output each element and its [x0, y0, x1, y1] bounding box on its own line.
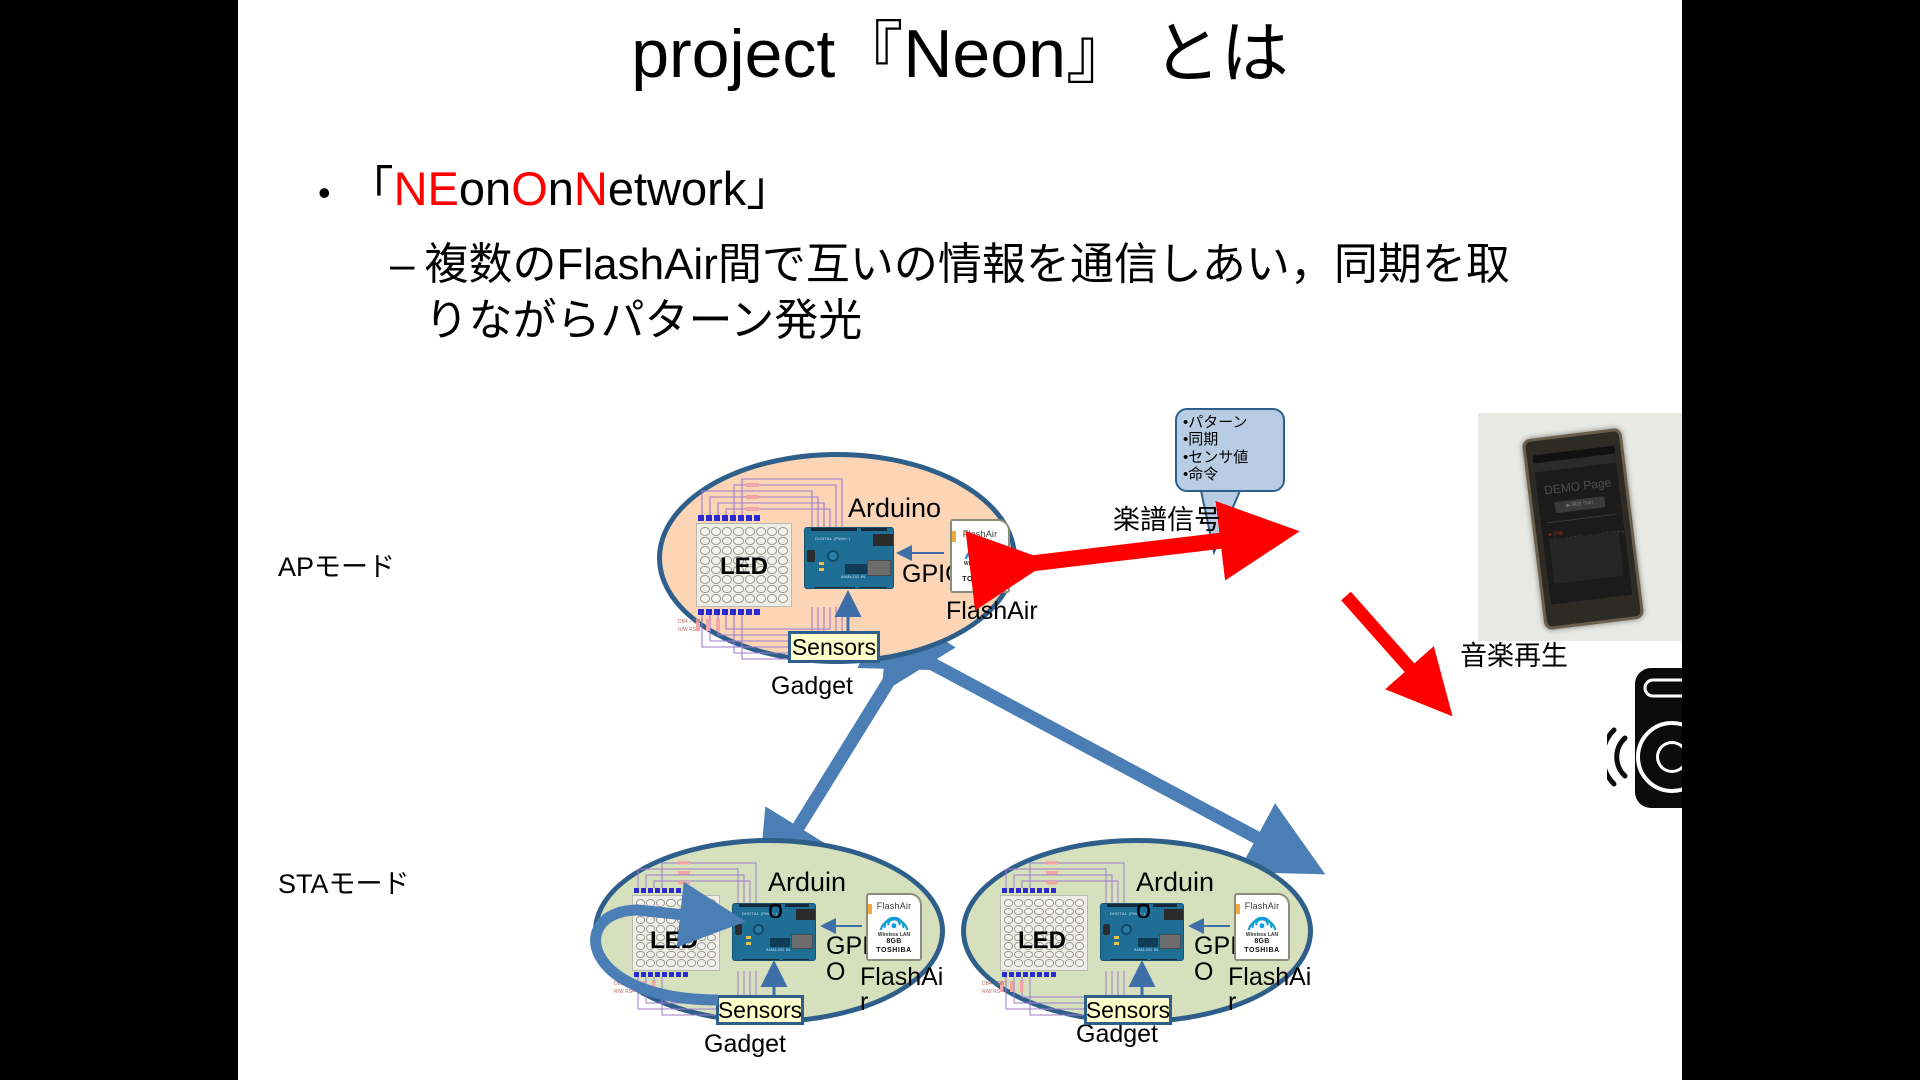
music-play-arrow — [1346, 596, 1431, 692]
phone-start-button[interactable]: ▶ 開始 Start — [1555, 496, 1606, 513]
callout-bubble: •パターン •同期 •センサ値 •命令 — [1175, 408, 1285, 492]
sta-mode-label: STAモード — [278, 862, 410, 901]
music-play-label: 音楽再生 — [1460, 634, 1568, 673]
speaker-icon — [1607, 660, 1682, 815]
bullet-dot-icon: • — [318, 175, 331, 211]
gadget-sta2-ellipse: LED — [961, 838, 1313, 1024]
slide-stage: project『Neon』 とは • 「NEon On Network」 – 複… — [0, 0, 1920, 1080]
smartphone-photo: DEMO Page ▶ 開始 Start ■ 手順 このページはスマートフォンの… — [1478, 413, 1682, 641]
bullet-level2: – 複数のFlashAir間で互いの情報を通信しあい，同期を取りながらパターン発… — [390, 237, 1520, 350]
sensors-box-sta2: Sensors — [1084, 995, 1172, 1025]
bullet-level1-hl-n: N — [574, 161, 608, 216]
phone-media-controls[interactable] — [1549, 532, 1624, 584]
bullet-level1-close-quote: 」 — [746, 150, 793, 219]
slide-canvas: project『Neon』 とは • 「NEon On Network」 – 複… — [238, 0, 1682, 1080]
ap-mode-label: APモード — [278, 545, 395, 584]
sync-arrow-ap-to-sta2 — [910, 652, 1291, 856]
phone-body: DEMO Page ▶ 開始 Start ■ 手順 このページはスマートフォンの… — [1522, 428, 1645, 631]
callout-item-3: •命令 — [1183, 466, 1277, 483]
bullet-level1-open-quote: 「 — [347, 150, 394, 219]
bullet-level1-on: on — [459, 161, 511, 216]
phone-divider — [1547, 514, 1617, 524]
bullet-level2-text: 複数のFlashAir間で互いの情報を通信しあい，同期を取りながらパターン発光 — [424, 237, 1520, 350]
bullet-level1-hl-o: O — [511, 161, 548, 216]
sensors-box-ap: Sensors — [788, 631, 880, 663]
callout-item-2: •センサ値 — [1183, 449, 1277, 466]
page-title: project『Neon』 とは — [238, 20, 1682, 88]
callout-item-0: •パターン — [1183, 414, 1277, 431]
phone-page-title: DEMO Page — [1536, 474, 1619, 498]
bullet-dash-icon: – — [390, 237, 414, 293]
bullet-level1: • 「NEon On Network」 — [318, 150, 793, 219]
bullet-level1-hl-ne: NE — [394, 161, 459, 216]
gadget-caption-ap: Gadget — [771, 672, 853, 701]
bullet-level1-n: n — [548, 161, 574, 216]
callout-item-1: •同期 — [1183, 431, 1277, 448]
gadget-ap-ellipse: LED — [657, 452, 1017, 664]
score-signal-label: 楽譜信号 — [1113, 498, 1221, 537]
gadget-sta1-ellipse: LED — [593, 838, 945, 1024]
phone-screen: DEMO Page ▶ 開始 Start ■ 手順 このページはスマートフォンの… — [1533, 446, 1633, 605]
sensors-box-sta1: Sensors — [716, 995, 804, 1025]
bullet-level1-etwork: etwork — [608, 161, 746, 216]
gadget-caption-sta1: Gadget — [704, 1030, 786, 1059]
